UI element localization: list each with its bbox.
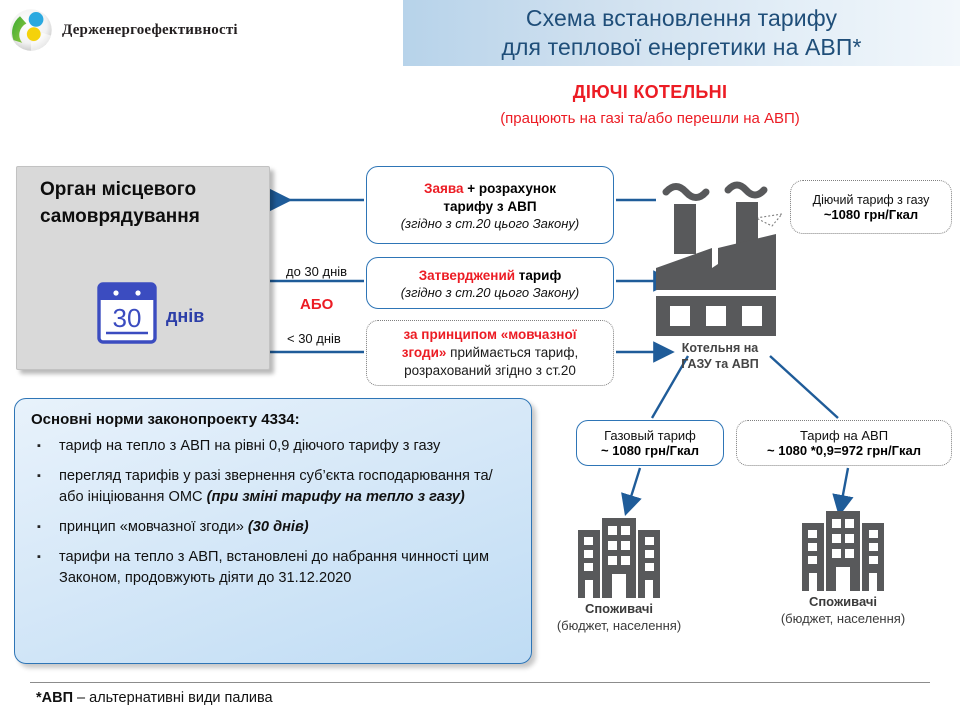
local-authority-title: Орган місцевого самоврядування xyxy=(40,176,260,230)
boiler-label: Котельня на ГАЗУ та АВП xyxy=(640,340,800,372)
subtitle-heading: ДІЮЧІ КОТЕЛЬНІ xyxy=(380,82,920,103)
label-less-30-days: < 30 днів xyxy=(287,331,341,346)
bullet-icon: ▪ xyxy=(31,466,59,508)
footnote-term: *АВП xyxy=(36,690,73,706)
days-label: днів xyxy=(166,306,204,327)
swirl-logo-icon xyxy=(8,7,54,53)
application-line1: Заява + розрахунок xyxy=(424,180,556,198)
list-item-text: тариф на тепло з АВП на рівні 0,9 діючог… xyxy=(59,436,440,457)
boiler-label-line1: Котельня на xyxy=(640,340,800,356)
application-red-text: Заява xyxy=(424,181,463,196)
local-authority-title-line1: Орган місцевого xyxy=(40,176,260,203)
buildings-icon xyxy=(576,512,662,598)
page-title-line1: Схема встановлення тарифу xyxy=(526,4,837,33)
bullet-icon: ▪ xyxy=(31,517,59,538)
list-item-main: принцип «мовчазної згоди» xyxy=(59,519,248,535)
callout-line1: Діючий тариф з газу xyxy=(813,193,930,207)
approved-red-text: Затверджений xyxy=(419,268,515,283)
factory-icon xyxy=(650,178,790,338)
application-bold-text: + розрахунок xyxy=(463,181,556,196)
consumers-subtitle-left: (бюджет, населення) xyxy=(534,617,704,634)
silent-rest-text: приймається тариф, xyxy=(446,345,578,360)
application-box: Заява + розрахунок тарифу з АВП (згідно … xyxy=(366,166,614,244)
approved-line1: Затверджений тариф xyxy=(419,267,562,285)
gas-tariff-box: Газовый тариф ~ 1080 грн/Гкал xyxy=(576,420,724,466)
silent-line1: за принципом «мовчазної xyxy=(404,326,577,344)
key-provisions-title: Основні норми законопроекту 4334: xyxy=(31,411,515,428)
callout-line2: ~1080 грн/Гкал xyxy=(824,207,918,222)
approved-bold-text: тариф xyxy=(515,268,561,283)
silent-consent-box: за принципом «мовчазної згоди» приймаєть… xyxy=(366,320,614,386)
boiler-label-line2: ГАЗУ та АВП xyxy=(640,356,800,372)
silent-line3: розрахований згідно з ст.20 xyxy=(404,362,576,380)
avp-tariff-value: ~ 1080 *0,9=972 грн/Гкал xyxy=(767,443,921,458)
consumers-caption-right: Споживачі (бюджет, населення) xyxy=(758,593,928,627)
avp-tariff-title: Тариф на АВП xyxy=(800,428,888,443)
consumers-title-left: Споживачі xyxy=(534,600,704,617)
brand-logo: Держенергоефективності xyxy=(8,6,308,54)
list-item-main: тарифи на тепло з АВП, встановлені до на… xyxy=(59,549,489,586)
list-item-text: принцип «мовчазної згоди» (30 днів) xyxy=(59,517,309,538)
application-note: (згідно з ст.20 цього Закону) xyxy=(401,216,580,231)
avp-tariff-box: Тариф на АВП ~ 1080 *0,9=972 грн/Гкал xyxy=(736,420,952,466)
arrow-gas-tariff-to-consumers xyxy=(630,468,640,500)
bullet-icon: ▪ xyxy=(31,547,59,589)
approved-tariff-box: Затверджений тариф (згідно з ст.20 цього… xyxy=(366,257,614,309)
list-item: ▪ принцип «мовчазної згоди» (30 днів) xyxy=(31,517,515,538)
list-item-text: тарифи на тепло з АВП, встановлені до на… xyxy=(59,547,515,589)
footer-divider xyxy=(30,682,930,683)
calendar-day-number: 30 xyxy=(113,303,142,333)
list-item: ▪ тарифи на тепло з АВП, встановлені до … xyxy=(31,547,515,589)
silent-red-text: згоди» xyxy=(402,345,447,360)
list-item: ▪ тариф на тепло з АВП на рівні 0,9 діюч… xyxy=(31,436,515,457)
application-line2: тарифу з АВП xyxy=(443,198,536,216)
buildings-icon xyxy=(800,505,886,591)
local-authority-title-line2: самоврядування xyxy=(40,203,260,230)
gas-tariff-value: ~ 1080 грн/Гкал xyxy=(601,443,699,458)
page-title-line2: для теплової енергетики на АВП* xyxy=(501,33,861,62)
approved-note: (згідно з ст.20 цього Закону) xyxy=(401,285,580,300)
list-item: ▪ перегляд тарифів у разі звернення суб’… xyxy=(31,466,515,508)
silent-line2: згоди» приймається тариф, xyxy=(402,344,578,362)
list-item-main: тариф на тепло з АВП на рівні 0,9 діючог… xyxy=(59,438,440,454)
consumers-title-right: Споживачі xyxy=(758,593,928,610)
list-item-emph: (30 днів) xyxy=(248,519,309,535)
label-up-to-30-days: до 30 днів xyxy=(286,264,347,279)
current-gas-tariff-callout: Діючий тариф з газу ~1080 грн/Гкал xyxy=(790,180,952,234)
calendar-30-icon: 30 xyxy=(96,280,158,346)
list-item-emph: (при зміні тарифу на тепло з газу) xyxy=(207,489,465,505)
subtitle-note: (працюють на газі та/або перешли на АВП) xyxy=(380,110,920,127)
consumers-caption-left: Споживачі (бюджет, населення) xyxy=(534,600,704,634)
brand-name: Держенергоефективності xyxy=(62,22,238,39)
footnote-definition: – альтернативні види палива xyxy=(73,690,273,706)
page-title: Схема встановлення тарифу для теплової е… xyxy=(403,2,960,64)
arrow-avp-tariff-to-consumers xyxy=(842,468,848,500)
bullet-icon: ▪ xyxy=(31,436,59,457)
footnote: *АВП – альтернативні види палива xyxy=(36,690,273,706)
key-provisions-box: Основні норми законопроекту 4334: ▪ тари… xyxy=(14,398,532,664)
gas-tariff-title: Газовый тариф xyxy=(604,428,696,443)
consumers-subtitle-right: (бюджет, населення) xyxy=(758,610,928,627)
list-item-text: перегляд тарифів у разі звернення суб’єк… xyxy=(59,466,515,508)
label-or: АБО xyxy=(300,296,333,313)
